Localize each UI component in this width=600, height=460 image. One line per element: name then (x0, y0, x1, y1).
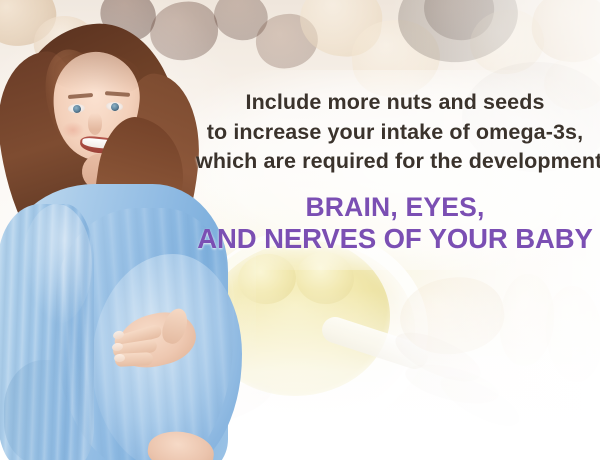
shoulder-highlight (22, 204, 92, 324)
body-line-2: to increase your intake of omega-3s, (196, 118, 594, 148)
headline-block: BRAIN, EYES, AND NERVES OF YOUR BABY (196, 192, 594, 254)
headline-line-1: BRAIN, EYES, (196, 192, 594, 223)
nose (88, 113, 102, 135)
iris (73, 105, 81, 113)
message-text-block: Include more nuts and seeds to increase … (196, 88, 594, 254)
body-line-1: Include more nuts and seeds (196, 88, 594, 118)
headline-line-2: AND NERVES OF YOUR BABY (196, 223, 594, 254)
iris (111, 103, 119, 111)
body-line-3: which are required for the development o… (196, 147, 594, 177)
cheek (62, 122, 84, 138)
infographic-poster: Include more nuts and seeds to increase … (0, 0, 600, 460)
sleeve-fold (4, 360, 90, 460)
